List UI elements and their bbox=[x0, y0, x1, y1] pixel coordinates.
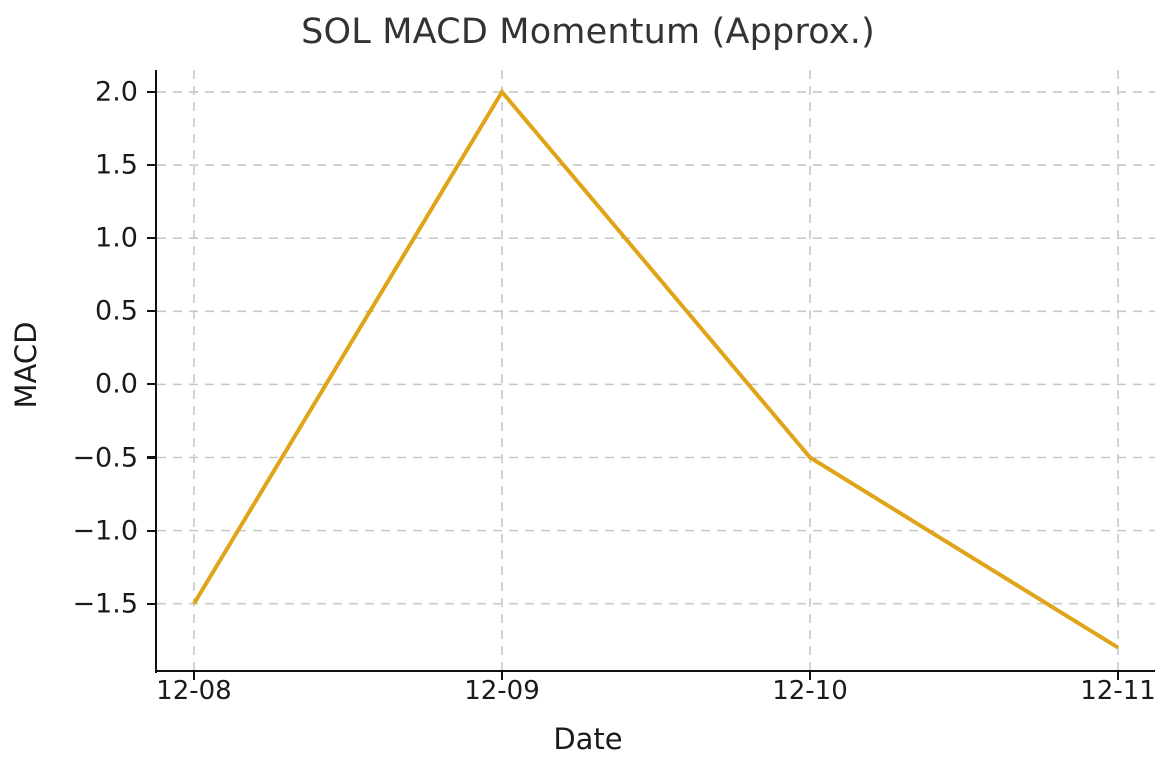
y-tick-label: 2.0 bbox=[95, 76, 138, 107]
x-tick-label: 12-10 bbox=[772, 676, 848, 706]
y-tick-mark bbox=[147, 237, 155, 239]
plot-area bbox=[157, 70, 1155, 671]
y-tick-label: −1.0 bbox=[72, 515, 138, 546]
y-axis-spine bbox=[155, 70, 157, 673]
y-tick-mark bbox=[147, 603, 155, 605]
chart-figure: SOL MACD Momentum (Approx.) 2.01.51.00.5… bbox=[0, 0, 1176, 780]
y-tick-label: −1.5 bbox=[72, 588, 138, 619]
x-axis-label: Date bbox=[0, 722, 1176, 756]
x-tick-label: 12-08 bbox=[156, 676, 232, 706]
y-tick-label: 1.5 bbox=[95, 150, 138, 181]
x-tick-label: 12-11 bbox=[1080, 676, 1156, 706]
y-tick-mark bbox=[147, 164, 155, 166]
y-tick-mark bbox=[147, 383, 155, 385]
y-tick-label: 0.0 bbox=[95, 369, 138, 400]
y-tick-mark bbox=[147, 310, 155, 312]
data-series-macd bbox=[157, 70, 1155, 671]
y-tick-mark bbox=[147, 530, 155, 532]
y-tick-label: 0.5 bbox=[95, 296, 138, 327]
y-tick-mark bbox=[147, 91, 155, 93]
y-tick-label: −0.5 bbox=[72, 442, 138, 473]
chart-title: SOL MACD Momentum (Approx.) bbox=[0, 12, 1176, 52]
x-tick-label: 12-09 bbox=[464, 676, 540, 706]
y-axis-label: MACD bbox=[9, 295, 43, 435]
x-axis-spine bbox=[155, 670, 1155, 672]
y-tick-label: 1.0 bbox=[95, 223, 138, 254]
y-tick-mark bbox=[147, 456, 155, 458]
